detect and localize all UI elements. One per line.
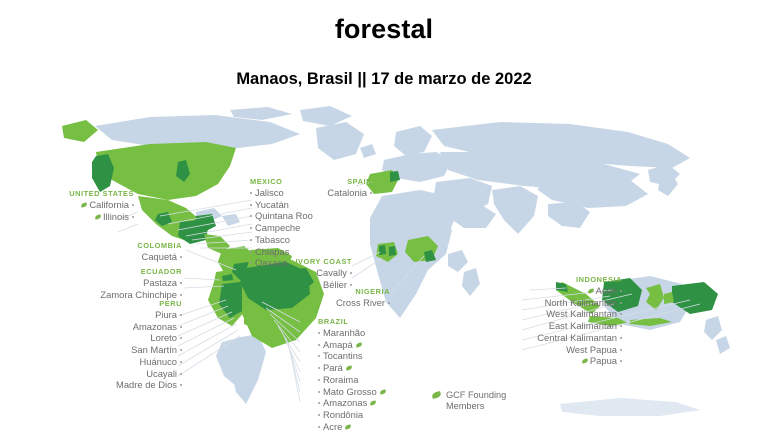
region-san-martin: San Martín bbox=[56, 344, 182, 356]
map-legend: GCF Founding Members bbox=[432, 390, 506, 411]
region-roraima: Roraima bbox=[318, 374, 386, 386]
leader-dot bbox=[318, 426, 320, 428]
leader-dot bbox=[370, 192, 372, 194]
leaf-icon bbox=[345, 424, 352, 429]
region-tabasco: Tabasco bbox=[250, 234, 313, 246]
region-loreto: Loreto bbox=[56, 332, 182, 344]
leader-dot bbox=[318, 344, 320, 346]
region-cavally: Cavally bbox=[240, 267, 352, 279]
region-illinois: Illinois bbox=[14, 211, 134, 223]
leader-dot bbox=[180, 282, 182, 284]
leader-dot bbox=[350, 272, 352, 274]
leader-dot bbox=[180, 337, 182, 339]
region-north-kalimantan: North Kalimantan bbox=[492, 297, 622, 309]
region-piura: Piura bbox=[56, 309, 182, 321]
leader-dot bbox=[620, 313, 622, 315]
leader-dot bbox=[318, 402, 320, 404]
region-west-papua: West Papua bbox=[492, 344, 622, 356]
label-group-indonesia: INDONESIA Aceh North Kalimantan West Kal… bbox=[492, 274, 622, 367]
leader-dot bbox=[620, 302, 622, 304]
leader-dot bbox=[318, 355, 320, 357]
region-acre: Acre bbox=[318, 421, 386, 433]
leaf-icon bbox=[379, 389, 386, 394]
leader-dot bbox=[180, 384, 182, 386]
region-ucayali: Ucayali bbox=[56, 368, 182, 380]
leaf-icon bbox=[581, 359, 588, 364]
region-amazonas-br: Amazonas bbox=[318, 397, 386, 409]
leader-dot bbox=[388, 302, 390, 304]
leaf-icon bbox=[95, 214, 102, 219]
slide: forestal Manaos, Brasil || 17 de marzo d… bbox=[0, 0, 768, 435]
region-tocantins: Tocantins bbox=[318, 350, 386, 362]
country-heading-brazil: BRAZIL bbox=[318, 316, 386, 327]
leaf-icon bbox=[431, 391, 441, 399]
country-heading-ivory-coast: IVORY COAST bbox=[240, 256, 352, 267]
label-group-brazil: BRAZIL Maranhão Amapá Tocantins Pará Ror… bbox=[318, 316, 386, 432]
page-subtitle: Manaos, Brasil || 17 de marzo de 2022 bbox=[0, 70, 768, 89]
region-mato-grosso: Mato Grosso bbox=[318, 386, 386, 398]
leader-dot bbox=[250, 204, 252, 206]
label-group-spain: SPAIN Catalonia bbox=[262, 176, 372, 199]
leader-dot bbox=[318, 367, 320, 369]
country-heading-indonesia: INDONESIA bbox=[492, 274, 622, 285]
region-pastaza: Pastaza bbox=[42, 277, 182, 289]
region-cross-river: Cross River bbox=[282, 297, 390, 309]
leader-dot bbox=[620, 360, 622, 362]
leaf-icon bbox=[355, 342, 362, 347]
country-heading-peru: PERU bbox=[56, 298, 182, 309]
leaf-icon bbox=[370, 401, 377, 406]
leaf-icon bbox=[587, 288, 594, 293]
leader-dot bbox=[318, 391, 320, 393]
legend-label: GCF Founding Members bbox=[446, 390, 506, 411]
region-yucatan: Yucatán bbox=[250, 199, 313, 211]
label-group-united-states: UNITED STATES California Illinois bbox=[14, 188, 134, 222]
region-amapa: Amapá bbox=[318, 339, 386, 351]
region-caqueta: Caquetá bbox=[62, 251, 182, 263]
label-group-nigeria: NIGERIA Cross River bbox=[282, 286, 390, 309]
region-central-kalimantan: Central Kalimantan bbox=[492, 332, 622, 344]
leader-dot bbox=[132, 216, 134, 218]
page-title: forestal bbox=[0, 14, 768, 45]
region-rondonia: Rondônia bbox=[318, 409, 386, 421]
leader-dot bbox=[620, 349, 622, 351]
label-group-ecuador: ECUADOR Pastaza Zamora Chinchipe bbox=[42, 266, 182, 300]
leader-dot bbox=[132, 204, 134, 206]
leader-dot bbox=[620, 290, 622, 292]
label-group-peru: PERU Piura Amazonas Loreto San Martín Hu… bbox=[56, 298, 182, 391]
country-heading-ecuador: ECUADOR bbox=[42, 266, 182, 277]
legend-label-line2: Members bbox=[446, 401, 506, 412]
region-maranhao: Maranhão bbox=[318, 327, 386, 339]
leader-dot bbox=[180, 349, 182, 351]
region-campeche: Campeche bbox=[250, 222, 313, 234]
leader-dot bbox=[250, 239, 252, 241]
region-papua: Papua bbox=[492, 355, 622, 367]
leader-dot bbox=[180, 314, 182, 316]
leader-dot bbox=[250, 227, 252, 229]
leader-dot bbox=[180, 294, 182, 296]
region-aceh: Aceh bbox=[492, 285, 622, 297]
region-california: California bbox=[14, 199, 134, 211]
region-amazonas-pe: Amazonas bbox=[56, 321, 182, 333]
leaf-icon bbox=[345, 365, 352, 370]
region-west-kalimantan: West Kalimantan bbox=[492, 308, 622, 320]
leader-dot bbox=[180, 373, 182, 375]
region-para: Pará bbox=[318, 362, 386, 374]
region-catalonia: Catalonia bbox=[262, 187, 372, 199]
country-heading-spain: SPAIN bbox=[262, 176, 372, 187]
region-east-kalimantan: East Kalimantan bbox=[492, 320, 622, 332]
leader-dot bbox=[180, 326, 182, 328]
country-heading-colombia: COLOMBIA bbox=[62, 240, 182, 251]
leader-dot bbox=[250, 251, 252, 253]
region-huanuco: Huánuco bbox=[56, 356, 182, 368]
label-group-colombia: COLOMBIA Caquetá bbox=[62, 240, 182, 263]
leader-dot bbox=[180, 361, 182, 363]
leaf-icon bbox=[81, 202, 88, 207]
leader-dot bbox=[250, 215, 252, 217]
leader-dot bbox=[250, 192, 252, 194]
region-madre-de-dios: Madre de Dios bbox=[56, 379, 182, 391]
leader-dot bbox=[620, 325, 622, 327]
country-heading-united-states: UNITED STATES bbox=[14, 188, 134, 199]
legend-label-line1: GCF Founding bbox=[446, 390, 506, 401]
leader-dot bbox=[318, 414, 320, 416]
region-quintana-roo: Quintana Roo bbox=[250, 210, 313, 222]
country-heading-nigeria: NIGERIA bbox=[282, 286, 390, 297]
leader-dot bbox=[318, 332, 320, 334]
leader-dot bbox=[620, 337, 622, 339]
leader-dot bbox=[180, 256, 182, 258]
leader-dot bbox=[318, 379, 320, 381]
